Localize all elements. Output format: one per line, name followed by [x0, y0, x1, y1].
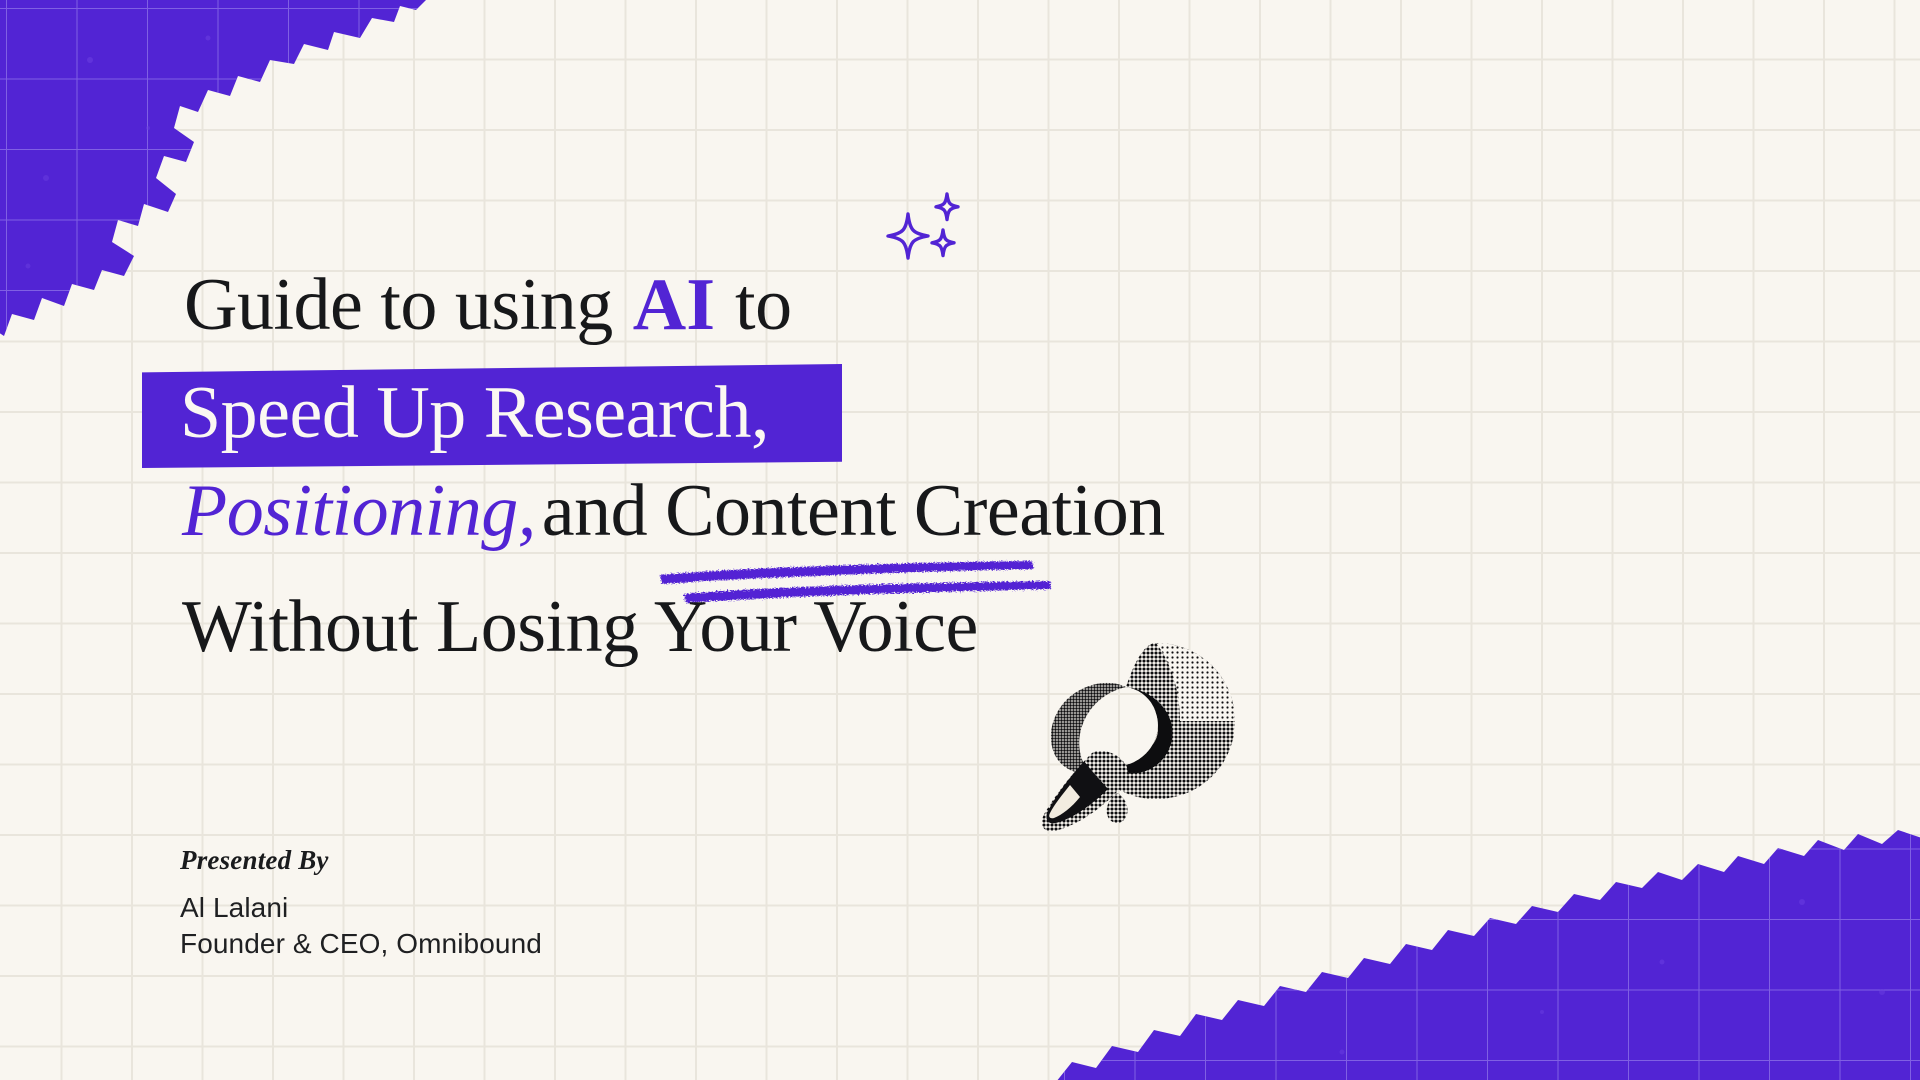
title-line-1-prefix: Guide to using	[184, 264, 631, 346]
presenter-name: Al Lalani	[180, 890, 542, 926]
title-line-1: Guide to using AI to	[180, 268, 1330, 342]
torn-paper-corner-bottom-right	[1042, 752, 1920, 1080]
title-accent-positioning: Positioning,	[182, 470, 542, 552]
presenter-footer: Presented By Al Lalani Founder & CEO, Om…	[180, 845, 542, 962]
sparkles-icon	[880, 192, 970, 270]
presented-by-label: Presented By	[180, 845, 542, 876]
slide-title-block: Guide to using AI to Speed Up Research, …	[180, 268, 1330, 664]
title-line-2: Speed Up Research,	[180, 376, 769, 450]
megaphone-halftone-icon	[1030, 635, 1245, 840]
slide-canvas: Guide to using AI to Speed Up Research, …	[0, 0, 1920, 1080]
title-line-3-container: Positioning,and Content Creation	[180, 474, 1330, 574]
title-line-3-rest: and Content Creation	[542, 470, 1165, 552]
title-line-1-suffix: to	[717, 264, 792, 346]
title-line-4: Without Losing Your Voice	[180, 590, 1330, 664]
title-line-2-container: Speed Up Research,	[180, 364, 1330, 468]
title-line-3: Positioning,and Content Creation	[182, 474, 1165, 548]
title-accent-ai: AI	[631, 264, 717, 346]
presenter-role: Founder & CEO, Omnibound	[180, 926, 542, 962]
